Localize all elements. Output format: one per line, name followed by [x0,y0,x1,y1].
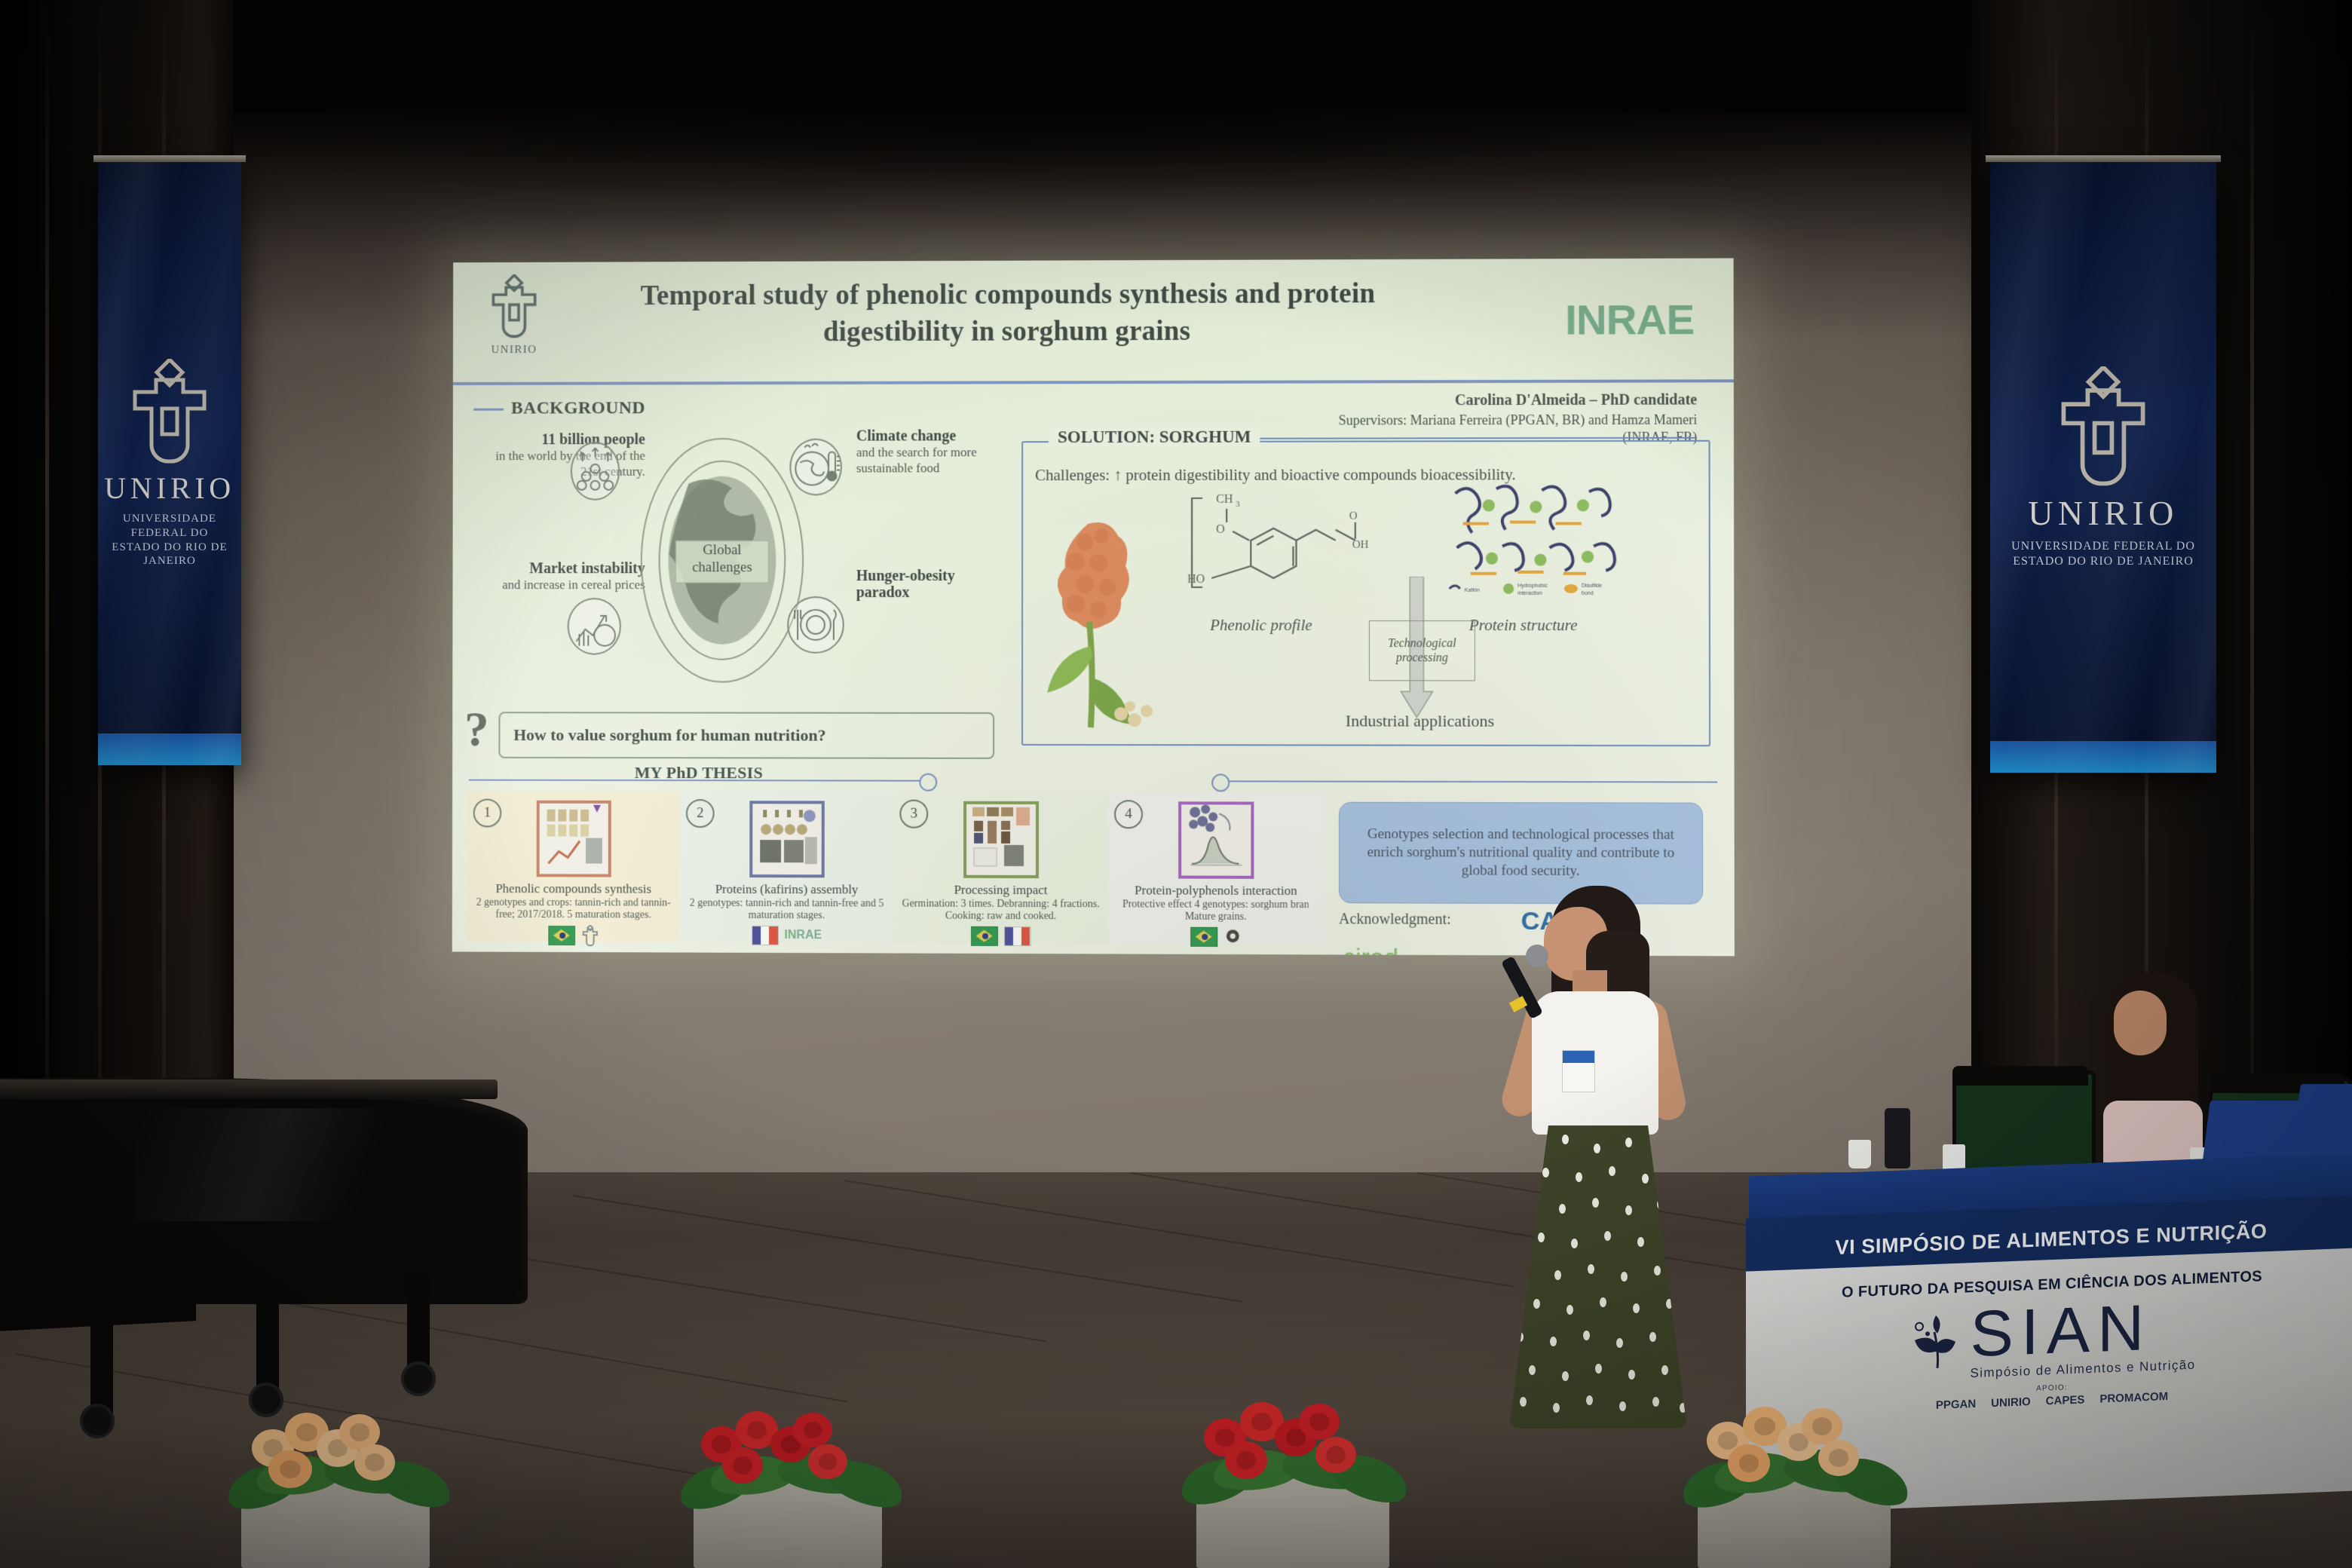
market-trend-icon [568,598,621,655]
brazil-flag-icon [1190,926,1217,946]
slide-title: Temporal study of phenolic compounds syn… [568,276,1448,352]
thesis-cards: 1 Phenolic compounds synthesis 2 genotyp… [467,792,1324,945]
slide-logo-caption: UNIRIO [479,344,550,357]
cirad-logo: cirad [1343,943,1398,956]
globe-center-line2: challenges [675,559,768,577]
unirio-logo-icon [488,274,539,339]
question-mark-icon: ? [464,707,489,752]
planter-4 [1681,1399,1907,1568]
svg-text:CH: CH [1216,493,1233,506]
background-label: BACKGROUND [511,398,645,418]
card-4-detail: Protective effect 4 genotypes: sorghum b… [1113,899,1319,924]
industrial-applications: Industrial applications [1295,711,1545,730]
card-2-detail: 2 genotypes: tannin-rich and tannin-free… [684,897,890,923]
card-2-inrae-logo: INRAE [785,929,822,942]
svg-text:HO: HO [1187,573,1205,586]
sorghum-plant-icon [1038,509,1189,735]
card-1-title: Phenolic compounds synthesis [472,882,675,896]
protein-caption: Protein structure [1469,616,1578,635]
card-4-title: Protein-polyphenols interaction [1113,884,1319,898]
climate-thermometer-icon [789,439,842,496]
svg-text:Kafirin: Kafirin [1465,588,1480,593]
technological-processing-box: Technological processing [1369,620,1475,681]
inrae-logo: INRAE [1565,295,1694,345]
promacom-logo: PROMACOM [2099,1390,2168,1405]
svg-text:bond: bond [1582,591,1594,596]
panel-chair-left [1952,1070,2096,1176]
protein-structure-icon: Kafirin Hydrophobicinteraction Disulfide… [1444,478,1634,607]
card-1-detail: 2 genotypes and crops: tannin-rich and t… [472,897,675,923]
france-flag-icon [752,926,779,945]
svg-text:O: O [1349,510,1358,522]
bg-item-hunger: Hunger-obesity paradox [856,568,1014,601]
phenolic-structure-icon: CH 3 O OH O HO [1172,486,1392,614]
card-2-title: Proteins (kafirins) assembly [684,883,890,897]
auditorium-scene: UNIRIO UNIVERSIDADE FEDERAL DO ESTADO DO… [0,0,2352,1568]
unirio-logo-icon [580,925,599,946]
svg-text:interaction: interaction [1517,591,1542,596]
plate-cutlery-icon [787,596,844,654]
population-growth-icon [571,442,620,501]
bg-item-climate-text: and the search for more sustainable food [856,445,1006,476]
unirio-support-logo: UNIRIO [1991,1395,2031,1410]
svg-text:Disulfide: Disulfide [1582,583,1602,589]
planter-2 [678,1404,897,1568]
slide-unirio-logo: UNIRIO [479,274,550,357]
sian-leaf-icon [1909,1311,1963,1372]
planter-3 [1180,1395,1406,1568]
brazil-flag-icon [548,926,575,945]
slide-title-line2: digestibility in sorghum grains [568,313,1448,352]
projected-slide: UNIRIO Temporal study of phenolic compou… [452,258,1735,956]
name-badge [1562,1050,1595,1092]
card-2-number: 2 [686,799,715,828]
svg-text:O: O [1216,523,1225,536]
thesis-label: MY PhD THESIS [452,762,1339,784]
bg-item-climate: Climate change and the search for more s… [856,427,1006,476]
slide-title-line1: Temporal study of phenolic compounds syn… [568,276,1448,315]
unicamp-logo-icon [1223,927,1242,947]
card-3-detail: Germination: 3 times. Debranning: 4 frac… [898,898,1104,923]
capes-support-logo: CAPES [2046,1393,2085,1407]
card-4-flags [1113,926,1319,947]
card-3-flags [898,926,1104,946]
research-question-box: How to value sorghum for human nutrition… [498,712,994,759]
card-1-flags [471,924,675,946]
card-2-image [749,801,825,877]
research-question: How to value sorghum for human nutrition… [513,725,825,745]
card-3-image [963,801,1039,878]
card-3-title: Processing impact [898,884,1104,898]
phenolic-caption: Phenolic profile [1210,616,1312,635]
microphone-head-icon [1526,945,1548,967]
acknowledgment-label: Acknowledgment: [1339,911,1451,929]
global-challenges-diagram: Global challenges [599,431,846,691]
svg-text:Hydrophobic: Hydrophobic [1517,583,1548,589]
background-section: BACKGROUND [473,397,997,418]
card-2-flags: INRAE [684,925,890,945]
thesis-card-1: 1 Phenolic compounds synthesis 2 genotyp… [467,792,680,942]
solution-label: SOLUTION: SORGHUM [1049,427,1260,447]
card-1-number: 1 [473,799,502,828]
patterned-skirt [1509,1125,1687,1429]
slide-header: UNIRIO Temporal study of phenolic compou… [453,258,1734,382]
thesis-card-4: 4 Protein-polyphenols interaction Protec… [1108,792,1324,944]
author-name: Carolina D'Almeida – PhD candidate [1091,391,1697,410]
svg-text:3: 3 [1236,500,1240,509]
bg-item-hunger-bold: Hunger-obesity [856,568,1014,584]
card-4-number: 4 [1114,800,1143,828]
tumbler [1885,1108,1910,1168]
svg-text:OH: OH [1352,539,1369,551]
wall-upper-shadow [226,113,1983,204]
thesis-card-2: 2 Proteins (kafirins) assembly 2 genotyp… [680,792,894,942]
card-4-image [1178,801,1254,878]
section-dash [473,409,504,411]
bg-item-climate-bold: Climate change [856,427,956,444]
globe-center-line1: Global [675,542,768,559]
france-flag-icon [1003,926,1031,946]
bg-item-hunger-text: paradox [856,584,1014,601]
card-1-image [536,801,611,877]
brazil-flag-icon [971,926,998,946]
background-label-row: BACKGROUND [473,397,997,418]
card-3-number: 3 [899,800,928,828]
right-unirio-banner: UNIRIO UNIVERSIDADE FEDERAL DO ESTADO DO… [1990,162,2216,773]
sian-logo-text: SIAN [1971,1296,2196,1366]
support-label: APOIO: [2036,1383,2068,1393]
presenter [1508,886,1689,1429]
planter-1 [226,1404,445,1568]
thesis-card-3: 3 Processing impact Germination: 3 times… [893,792,1108,944]
ppgan-logo: PPGAN [1936,1398,1976,1412]
left-unirio-banner: UNIRIO UNIVERSIDADE FEDERAL DO ESTADO DO… [98,162,241,765]
